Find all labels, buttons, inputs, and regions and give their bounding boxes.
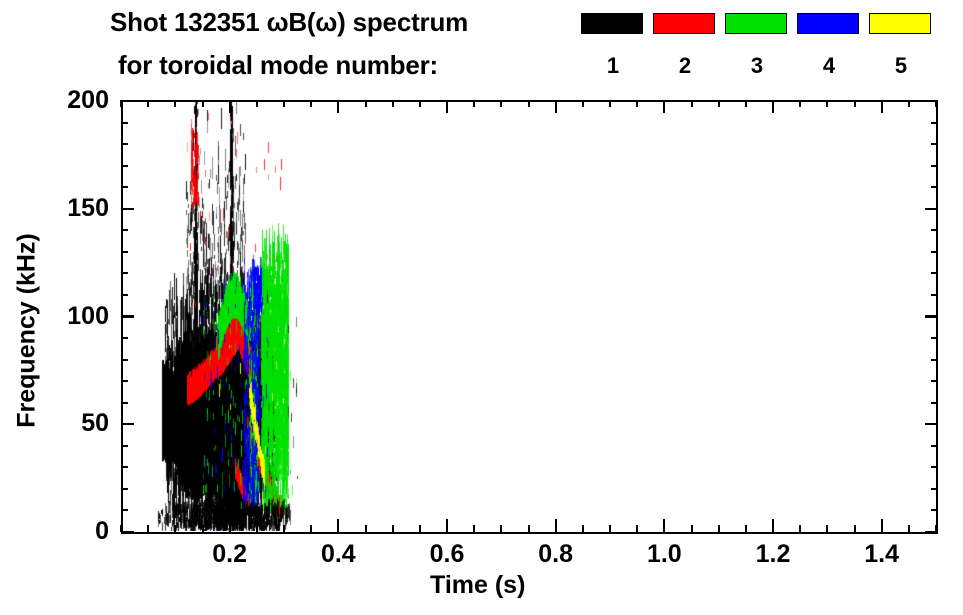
- y-tick-major: [121, 423, 134, 425]
- x-tick-minor: [609, 525, 611, 532]
- spectrogram-canvas: [123, 102, 936, 531]
- x-tick-minor: [202, 525, 204, 532]
- x-tick-minor-top: [799, 100, 801, 107]
- y-tick-minor: [121, 229, 128, 231]
- x-tick-label: 0.8: [511, 542, 601, 567]
- y-tick-minor: [121, 488, 128, 490]
- x-tick-major: [446, 519, 448, 532]
- x-tick-minor: [256, 525, 258, 532]
- legend-label-3: 3: [725, 55, 789, 77]
- y-tick-minor: [121, 272, 128, 274]
- x-tick-minor-top: [908, 100, 910, 107]
- legend-label-4: 4: [797, 55, 861, 77]
- y-axis-title: Frequency (kHz): [13, 216, 42, 446]
- x-tick-minor-top: [310, 100, 312, 107]
- y-tick-minor-right: [931, 359, 938, 361]
- x-tick-minor-top: [636, 100, 638, 107]
- y-tick-minor: [121, 402, 128, 404]
- x-tick-minor-top: [419, 100, 421, 107]
- x-tick-minor-top: [609, 100, 611, 107]
- legend-item-3: 3: [725, 13, 789, 34]
- x-tick-major-top: [337, 100, 339, 113]
- legend-swatch-5: [869, 13, 931, 34]
- y-tick-minor: [121, 294, 128, 296]
- x-tick-minor: [854, 525, 856, 532]
- y-tick-minor-right: [931, 165, 938, 167]
- x-tick-minor-top: [392, 100, 394, 107]
- x-tick-minor-top: [256, 100, 258, 107]
- y-tick-minor-right: [931, 509, 938, 511]
- x-tick-major: [337, 519, 339, 532]
- x-tick-minor: [500, 525, 502, 532]
- x-tick-minor: [392, 525, 394, 532]
- x-tick-minor-top: [174, 100, 176, 107]
- x-tick-minor: [636, 525, 638, 532]
- y-tick-minor-right: [931, 143, 938, 145]
- y-tick-minor-right: [931, 186, 938, 188]
- y-tick-minor: [121, 445, 128, 447]
- x-tick-minor-top: [147, 100, 149, 107]
- y-tick-label: 0: [19, 519, 109, 544]
- y-tick-minor-right: [931, 122, 938, 124]
- x-tick-major: [881, 519, 883, 532]
- y-tick-minor: [121, 122, 128, 124]
- x-tick-minor-top: [365, 100, 367, 107]
- x-tick-minor: [826, 525, 828, 532]
- y-tick-minor-right: [931, 229, 938, 231]
- y-tick-minor-right: [931, 294, 938, 296]
- legend-item-4: 4: [797, 13, 861, 34]
- x-tick-minor: [528, 525, 530, 532]
- x-tick-minor: [473, 525, 475, 532]
- x-tick-minor: [147, 525, 149, 532]
- x-tick-minor-top: [500, 100, 502, 107]
- spectrogram-data-area: [123, 102, 936, 531]
- legend-label-1: 1: [581, 55, 645, 77]
- y-tick-minor: [121, 251, 128, 253]
- x-tick-major-top: [663, 100, 665, 113]
- x-tick-major-top: [881, 100, 883, 113]
- x-tick-minor-top: [283, 100, 285, 107]
- x-tick-minor: [419, 525, 421, 532]
- x-tick-label: 1.2: [728, 542, 818, 567]
- y-tick-major-right: [925, 100, 938, 102]
- figure-title-line1: Shot 132351 ωB(ω) spectrum: [110, 7, 468, 38]
- x-tick-minor-top: [691, 100, 693, 107]
- legend-label-2: 2: [653, 55, 717, 77]
- x-tick-minor: [691, 525, 693, 532]
- legend-swatch-2: [653, 13, 715, 34]
- x-tick-minor-top: [528, 100, 530, 107]
- x-tick-minor: [745, 525, 747, 532]
- y-tick-minor-right: [931, 466, 938, 468]
- x-tick-major-top: [555, 100, 557, 113]
- x-tick-minor: [310, 525, 312, 532]
- x-tick-minor-top: [854, 100, 856, 107]
- y-tick-minor-right: [931, 251, 938, 253]
- x-tick-minor: [718, 525, 720, 532]
- y-tick-major: [121, 100, 134, 102]
- y-tick-minor: [121, 359, 128, 361]
- x-tick-minor: [174, 525, 176, 532]
- y-tick-minor: [121, 337, 128, 339]
- spectrogram-figure: Shot 132351 ωB(ω) spectrum for toroidal …: [0, 0, 963, 615]
- y-tick-major-right: [925, 315, 938, 317]
- x-tick-minor: [908, 525, 910, 532]
- y-tick-minor-right: [931, 380, 938, 382]
- x-axis-title: Time (s): [430, 571, 525, 600]
- legend-swatch-4: [797, 13, 859, 34]
- x-tick-minor-top: [473, 100, 475, 107]
- y-tick-minor: [121, 143, 128, 145]
- x-tick-minor: [365, 525, 367, 532]
- x-tick-minor: [283, 525, 285, 532]
- legend-item-1: 1: [581, 13, 645, 34]
- x-tick-major: [229, 519, 231, 532]
- y-tick-major: [121, 531, 134, 533]
- x-tick-minor-top: [718, 100, 720, 107]
- y-tick-minor-right: [931, 402, 938, 404]
- x-tick-minor-top: [745, 100, 747, 107]
- x-tick-minor-top: [202, 100, 204, 107]
- y-tick-minor: [121, 186, 128, 188]
- x-tick-minor: [799, 525, 801, 532]
- x-tick-label: 1.4: [837, 542, 927, 567]
- y-tick-minor: [121, 509, 128, 511]
- x-tick-label: 0.6: [402, 542, 492, 567]
- y-tick-major: [121, 208, 134, 210]
- y-tick-minor: [121, 466, 128, 468]
- x-tick-major-top: [446, 100, 448, 113]
- x-tick-major: [663, 519, 665, 532]
- y-tick-minor: [121, 380, 128, 382]
- legend-item-5: 5: [869, 13, 933, 34]
- y-tick-minor-right: [931, 488, 938, 490]
- y-tick-minor-right: [931, 272, 938, 274]
- x-tick-major-top: [229, 100, 231, 113]
- y-tick-minor-right: [931, 337, 938, 339]
- y-tick-major: [121, 315, 134, 317]
- y-tick-label: 200: [19, 88, 109, 113]
- y-tick-major-right: [925, 423, 938, 425]
- figure-title-line2: for toroidal mode number:: [118, 50, 438, 81]
- y-tick-minor-right: [931, 445, 938, 447]
- x-tick-major: [555, 519, 557, 532]
- legend-swatch-3: [725, 13, 787, 34]
- x-tick-minor: [582, 525, 584, 532]
- y-tick-minor: [121, 165, 128, 167]
- legend-swatch-1: [581, 13, 643, 34]
- x-tick-minor-top: [582, 100, 584, 107]
- x-tick-major: [772, 519, 774, 532]
- x-tick-major-top: [772, 100, 774, 113]
- y-tick-major-right: [925, 208, 938, 210]
- legend-item-2: 2: [653, 13, 717, 34]
- x-tick-minor-top: [826, 100, 828, 107]
- x-tick-label: 1.0: [619, 542, 709, 567]
- legend-label-5: 5: [869, 55, 933, 77]
- y-tick-major-right: [925, 531, 938, 533]
- x-tick-label: 0.2: [185, 542, 275, 567]
- x-tick-label: 0.4: [293, 542, 383, 567]
